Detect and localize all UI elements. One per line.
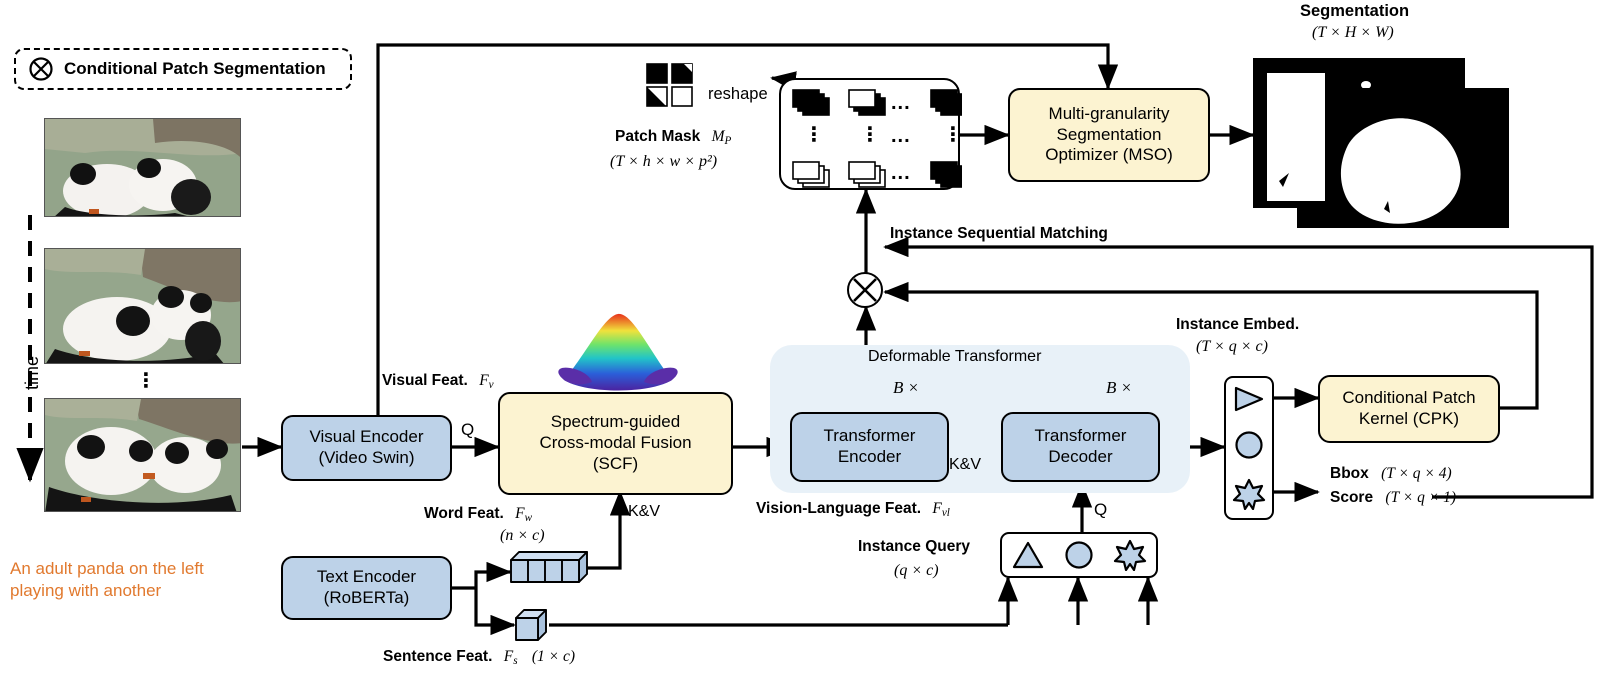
mso-box[interactable]: Multi-granularity Segmentation Optimizer…	[1008, 88, 1210, 182]
scf-box[interactable]: Spectrum-guided Cross-modal Fusion (SCF)	[498, 392, 733, 495]
transformer-encoder-line1: Transformer	[824, 426, 916, 447]
cpk-line1: Conditional Patch	[1342, 388, 1475, 409]
visual-encoder-line1: Visual Encoder	[309, 427, 423, 448]
video-frame	[44, 248, 241, 364]
mso-line2: Segmentation	[1045, 125, 1173, 146]
video-frames-ellipsis: ⋮	[136, 368, 156, 393]
instance-embed-column	[1224, 376, 1274, 520]
b-times-encoder-label: B ×	[893, 378, 919, 398]
scf-line1: Spectrum-guided	[539, 412, 691, 433]
instance-embed-shape: (T × q × c)	[1196, 338, 1268, 357]
patch-col4-vellipsis: ⋮	[943, 122, 963, 147]
instance-query-shape: (q × c)	[894, 562, 939, 581]
patch-mask-container: ... ... ⋮ ⋮ ... ⋮	[779, 78, 960, 190]
word-feature-cubes	[505, 548, 591, 588]
instance-query-box	[1000, 532, 1158, 578]
triangle-icon	[1011, 540, 1045, 570]
segmentation-frame	[1266, 72, 1326, 202]
patch-mask-label: Patch Mask MP	[615, 128, 731, 148]
cpk-box[interactable]: Conditional Patch Kernel (CPK)	[1318, 375, 1500, 443]
patch-row1-ellipsis: ...	[891, 92, 911, 115]
visual-encoder-box[interactable]: Visual Encoder (Video Swin)	[281, 415, 452, 481]
visual-feat-label: Visual Feat. Fv	[382, 372, 494, 392]
bbox-label: Bbox (T × q × 4)	[1330, 465, 1452, 483]
circle-icon	[1063, 539, 1095, 571]
b-times-decoder-label: B ×	[1106, 378, 1132, 398]
word-feat-label: Word Feat. Fw	[424, 505, 532, 525]
mso-line1: Multi-granularity	[1045, 104, 1173, 125]
video-frame	[44, 398, 241, 512]
text-encoder-line1: Text Encoder	[317, 567, 416, 588]
circled-times-operator	[847, 272, 883, 308]
score-label: Score (T × q × 1)	[1330, 489, 1456, 507]
circled-times-icon	[28, 56, 54, 82]
reshape-label: reshape	[708, 85, 768, 104]
legend-conditional-patch-segmentation: Conditional Patch Segmentation	[14, 48, 352, 90]
instance-embed-label: Instance Embed.	[1176, 316, 1299, 334]
mso-line3: Optimizer (MSO)	[1045, 145, 1173, 166]
reshape-mask-glyph	[645, 62, 703, 108]
scf-line3: (SCF)	[539, 454, 691, 475]
time-axis-label: time	[22, 356, 43, 390]
segmentation-shape: (T × H × W)	[1312, 24, 1394, 43]
video-frame	[44, 118, 241, 217]
patch-mid-ellipsis: ...	[891, 125, 911, 148]
patch-col1-vellipsis: ⋮	[804, 122, 824, 147]
legend-label: Conditional Patch Segmentation	[64, 59, 326, 79]
star-icon	[1232, 478, 1266, 510]
kv-scf-label: K&V	[628, 503, 660, 522]
transformer-encoder-box[interactable]: Transformer Encoder	[790, 412, 949, 482]
transformer-encoder-line2: Encoder	[824, 447, 916, 468]
instance-sequential-matching-label: Instance Sequential Matching	[890, 225, 1108, 243]
sentence-feat-label: Sentence Feat. Fs (1 × c)	[383, 648, 575, 668]
segmentation-label: Segmentation	[1300, 2, 1409, 21]
segmentation-frame	[1297, 88, 1509, 228]
patch-col2-vellipsis: ⋮	[860, 122, 880, 147]
play-triangle-icon	[1232, 386, 1266, 412]
transformer-decoder-box[interactable]: Transformer Decoder	[1001, 412, 1160, 482]
instance-query-label: Instance Query	[858, 538, 970, 556]
transformer-decoder-line1: Transformer	[1035, 426, 1127, 447]
scf-line2: Cross-modal Fusion	[539, 433, 691, 454]
cpk-line2: Kernel (CPK)	[1342, 409, 1475, 430]
q-visual-label: Q	[461, 420, 474, 440]
text-encoder-line2: (RoBERTa)	[317, 588, 416, 609]
star-icon	[1113, 539, 1147, 571]
word-feat-shape: (n × c)	[500, 527, 545, 546]
query-text: An adult panda on the left playing with …	[10, 558, 240, 602]
sentence-feature-cube	[512, 606, 552, 646]
deformable-transformer-label: Deformable Transformer	[868, 348, 1041, 367]
patch-mask-shape: (T × h × w × p²)	[610, 153, 717, 172]
visual-encoder-line2: (Video Swin)	[309, 448, 423, 469]
vision-language-feat-label: Vision-Language Feat. Fvl	[756, 500, 950, 520]
q-decoder-label: Q	[1094, 500, 1107, 520]
circle-icon	[1233, 429, 1265, 461]
text-encoder-box[interactable]: Text Encoder (RoBERTa)	[281, 556, 452, 620]
kv-decoder-label: K&V	[949, 456, 981, 475]
transformer-decoder-line2: Decoder	[1035, 447, 1127, 468]
patch-row3-ellipsis: ...	[891, 162, 911, 185]
